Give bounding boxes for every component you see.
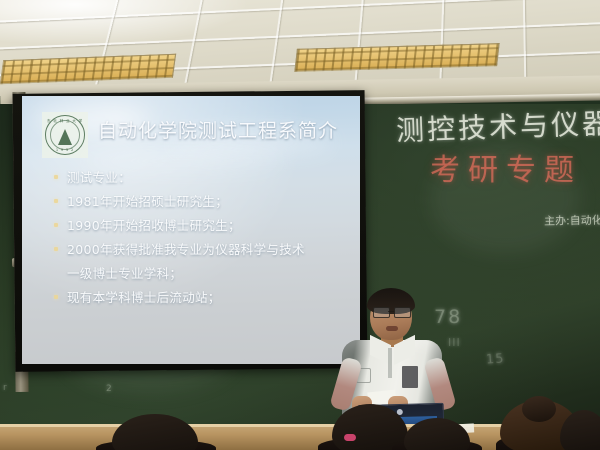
fluorescent-light-left [0,54,176,85]
emblem-arc-bottom: 1 9 5 2 [46,148,84,152]
university-emblem: 东 北 林 业 大 学 1 9 5 2 [42,112,88,158]
slide-bullet: 1981年开始招硕士研究生； [52,194,352,209]
audience-hair-bun [522,396,556,422]
eyeglasses-icon [373,307,390,318]
emblem-outer-circle: 东 北 林 业 大 学 1 9 5 2 [45,115,85,155]
slide-bullet-continuation: 一级博士专业学科； [52,266,352,281]
presenter-shirt-placket [388,348,392,378]
slide-bullet: 测试专业： [52,170,352,185]
blackboard-organizer: 主办:自动化学院 [544,211,600,228]
pink-scrunchie [344,434,356,441]
lecture-hall-scene: 测控技术与仪器专 考研专题 主办:自动化学院 78 III 15 r 2 东 北… [0,0,600,450]
blackboard-subhead: 考研专题 [430,145,582,189]
emblem-inner-circle [50,120,80,150]
slide-bullet: 1990年开始招收博士研究生； [52,218,352,233]
slide-bullet: 现有本学科博士后流动站； [52,290,352,305]
eyeglasses-icon [394,307,411,318]
pine-tree-icon [58,129,72,145]
presenter-mouth [386,326,398,331]
blackboard-faint-number-low: 15 [485,351,505,367]
eyeglasses-bridge [388,311,394,312]
slide-title: 自动化学院测试工程系简介 [98,116,338,143]
slide-bullet-list: 测试专业： 1981年开始招硕士研究生； 1990年开始招收博士研究生； 200… [52,170,352,314]
emblem-arc-top: 东 北 林 业 大 学 [46,119,84,124]
blackboard-headline: 测控技术与仪器专 [395,101,600,150]
presenter-name-badge [402,366,418,388]
blackboard-edge-mark-left: r [3,383,10,393]
slide-cloud [82,152,282,170]
projected-slide: 东 北 林 业 大 学 1 9 5 2 自动化学院测试工程系简介 测试专业： 1… [22,96,360,364]
blackboard-edge-mark-mid: 2 [106,384,115,394]
slide-bullet: 2000年获得批准我专业为仪器科学与技术 [52,242,352,257]
fluorescent-light-right [294,43,499,72]
